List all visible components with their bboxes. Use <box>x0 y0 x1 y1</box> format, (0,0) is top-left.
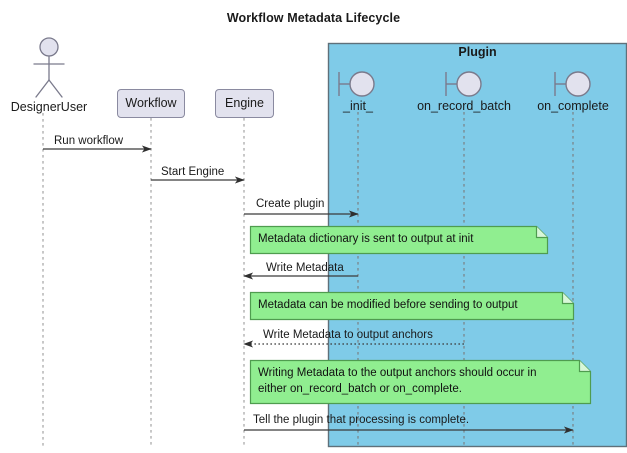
lollipop-orb-circle <box>457 72 481 96</box>
actor-label-designeruser: DesignerUser <box>0 100 98 114</box>
participant-box-workflow[interactable]: Workflow <box>117 89 185 118</box>
participant-label-workflow: Workflow <box>118 96 184 110</box>
actor-head <box>40 38 58 56</box>
participant-label-init: _init_ <box>318 99 398 113</box>
note-text-init-output: Metadata dictionary is sent to output at… <box>258 233 473 246</box>
note-text-modify-before-output: Metadata can be modified before sending … <box>258 299 518 312</box>
note-text-write-location-line2: either on_record_batch or on_complete. <box>258 383 462 396</box>
message-label-tell-plugin-complete: Tell the plugin that processing is compl… <box>253 414 469 427</box>
actor-designeruser-figure <box>34 38 64 97</box>
participant-label-engine: Engine <box>216 96 273 110</box>
note-text-write-location-line1: Writing Metadata to the output anchors s… <box>258 367 537 380</box>
message-label-write-metadata: Write Metadata <box>266 262 344 275</box>
sequence-diagram-canvas: Workflow Metadata Lifecycle Plugin Desig… <box>0 0 627 453</box>
message-label-create-plugin: Create plugin <box>256 198 324 211</box>
lollipop-oc-circle <box>566 72 590 96</box>
message-label-start-engine: Start Engine <box>161 166 224 179</box>
actor-leg-right <box>49 80 62 97</box>
message-label-run-workflow: Run workflow <box>54 135 123 148</box>
participant-label-on-record-batch: on_record_batch <box>400 99 528 113</box>
actor-leg-left <box>36 80 49 97</box>
plugin-group-label: Plugin <box>328 45 627 59</box>
message-label-write-metadata-output-anchors: Write Metadata to output anchors <box>263 329 433 342</box>
participant-box-engine[interactable]: Engine <box>215 89 274 118</box>
lollipop-init-circle <box>350 72 374 96</box>
page-title: Workflow Metadata Lifecycle <box>0 11 627 25</box>
participant-label-on-complete: on_complete <box>519 99 627 113</box>
